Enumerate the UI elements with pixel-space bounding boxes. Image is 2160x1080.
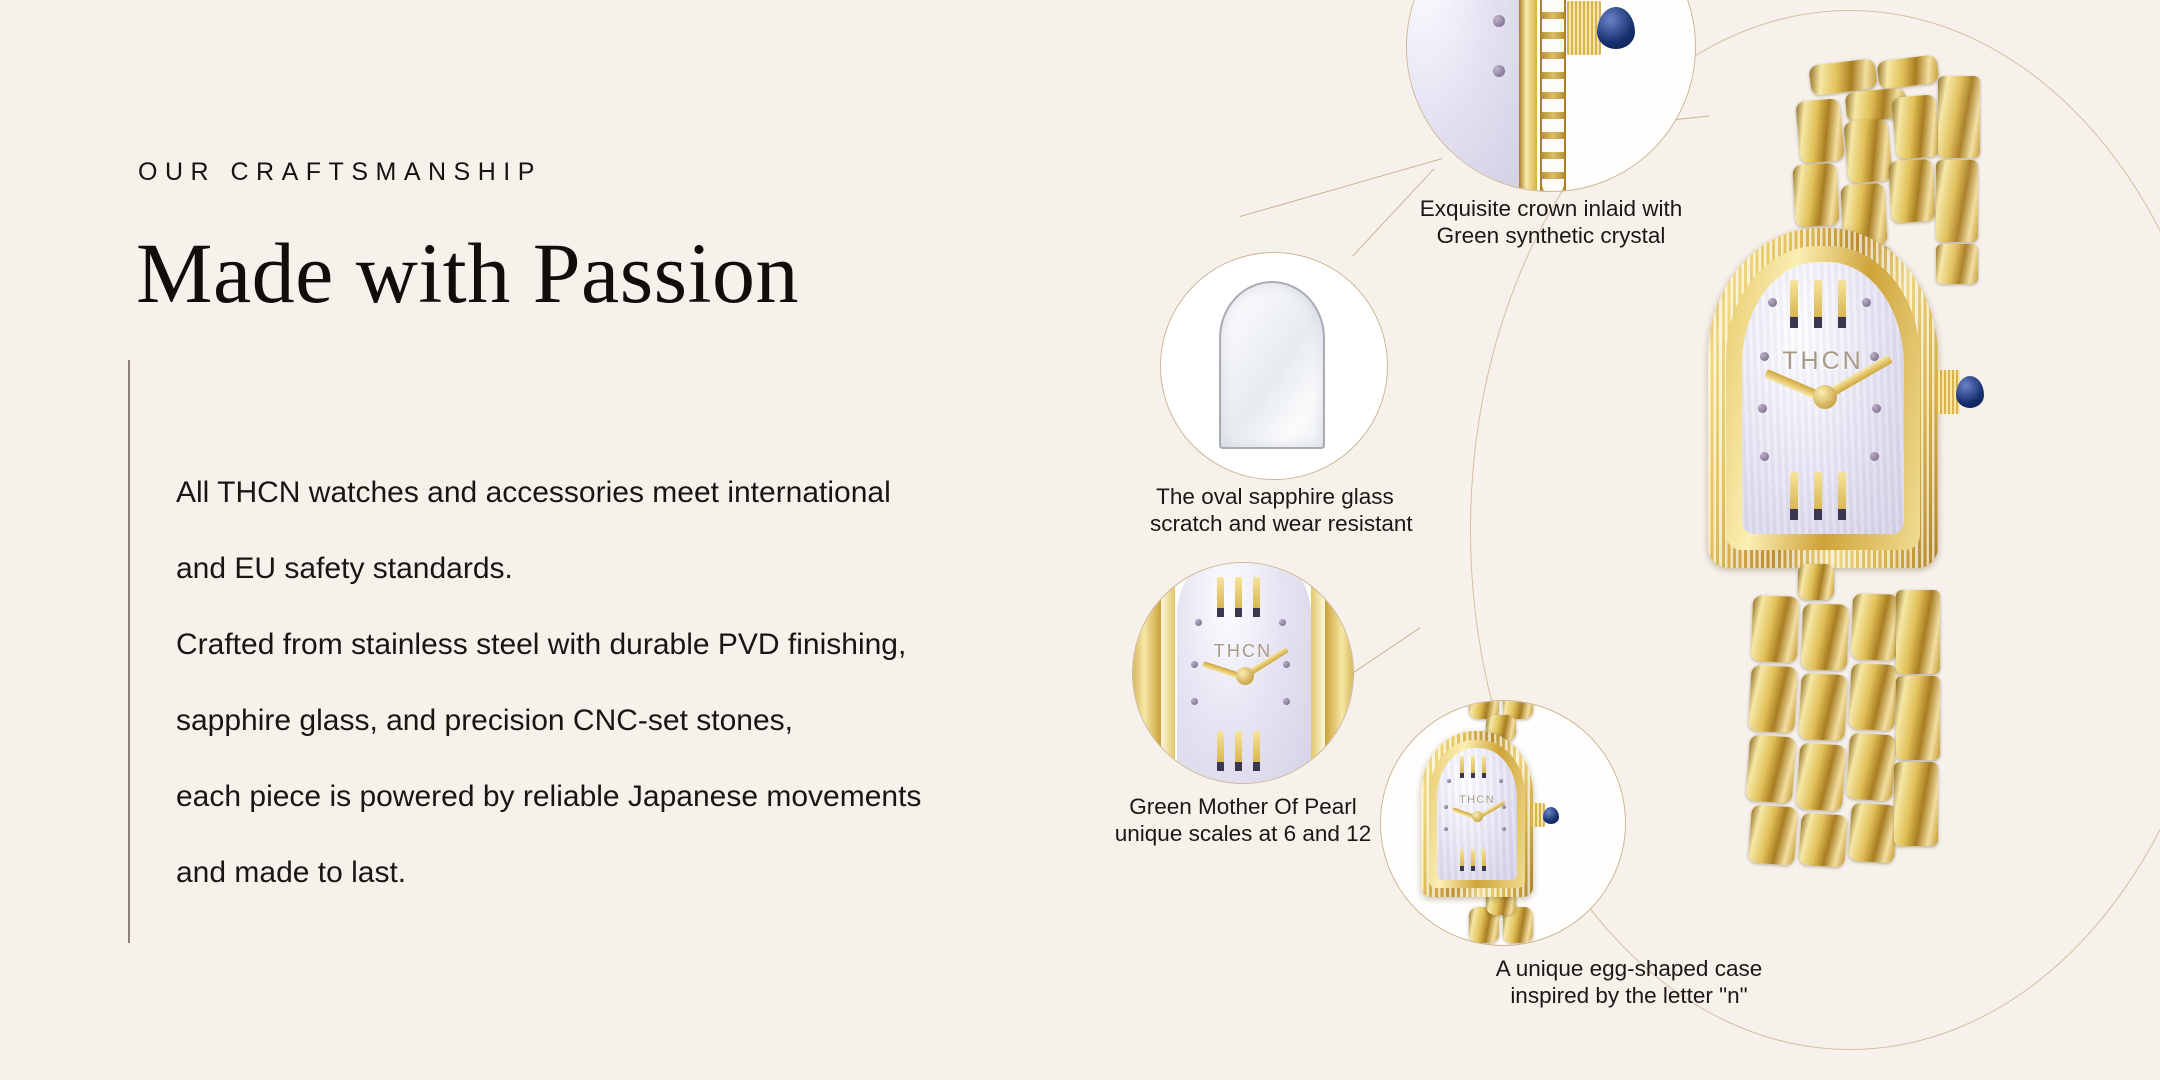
bracelet-side-band <box>1896 590 1940 674</box>
mop-case-left-inner <box>1161 562 1175 784</box>
body-line: and made to last. <box>176 835 1116 911</box>
hero-dot <box>1870 452 1879 461</box>
bracelet-link <box>1851 593 1899 661</box>
mop-dot <box>1283 698 1290 705</box>
hero-dot <box>1760 452 1769 461</box>
egg-crown-stone <box>1543 807 1559 824</box>
egg-bar-6 <box>1460 849 1464 871</box>
bracelet-link <box>1848 663 1897 731</box>
callout-bubble-mother-of-pearl: THCN <box>1132 562 1354 784</box>
hero-bar-6 <box>1838 472 1846 520</box>
bracelet-side-band <box>1936 160 1978 242</box>
body-line: and EU safety standards. <box>176 531 1116 607</box>
body-line: sapphire glass, and precision CNC-set st… <box>176 683 1116 759</box>
mop-bar-12 <box>1253 577 1260 617</box>
bracelet-link <box>1888 159 1935 223</box>
sapphire-crystal-shape <box>1219 281 1325 449</box>
egg-bar-6 <box>1471 849 1475 871</box>
mop-bar-12 <box>1235 577 1242 617</box>
product-panel: THCN Exquisite crown inlaid with Green s… <box>1090 0 2160 1080</box>
bracelet-link <box>1746 734 1796 803</box>
mop-case-right-rail <box>1325 562 1354 784</box>
bracelet-link <box>1843 118 1892 184</box>
mop-dot <box>1279 619 1286 626</box>
hero-bar-12 <box>1814 280 1822 328</box>
hero-bar-12 <box>1790 280 1798 328</box>
mop-dot <box>1191 698 1198 705</box>
bracelet-link <box>1748 804 1798 865</box>
hero-dot <box>1872 404 1881 413</box>
egg-dot <box>1447 779 1451 783</box>
callout-bubble-egg-case: THCN <box>1380 700 1626 946</box>
hero-crown-stone <box>1956 376 1984 408</box>
bracelet-link <box>1748 665 1797 733</box>
mop-bar-6 <box>1217 731 1224 771</box>
mop-case-left-rail <box>1132 562 1161 784</box>
crown-dial-dot <box>1493 65 1505 77</box>
body-copy: All THCN watches and accessories meet in… <box>176 455 1116 911</box>
mop-bar-6 <box>1253 731 1260 771</box>
mop-case-right-inner <box>1311 562 1325 784</box>
vertical-divider <box>128 360 130 943</box>
egg-bar-12 <box>1471 756 1475 778</box>
bracelet-link <box>1795 98 1844 164</box>
hero-bar-6 <box>1790 472 1798 520</box>
bracelet-link <box>1846 732 1896 801</box>
crown-dial-dot <box>1493 15 1505 27</box>
eyebrow-label: OUR CRAFTSMANSHIP <box>138 158 542 187</box>
body-line: Crafted from stainless steel with durabl… <box>176 607 1116 683</box>
bracelet-link <box>1891 94 1940 160</box>
bracelet-link <box>1798 673 1847 741</box>
bracelet-side-band <box>1938 76 1980 158</box>
body-line: All THCN watches and accessories meet in… <box>176 455 1116 531</box>
hero-bar-6 <box>1814 472 1822 520</box>
page-title: Made with Passion <box>136 228 799 318</box>
callout-caption-mother-of-pearl: Green Mother Of Pearl unique scales at 6… <box>1088 793 1398 847</box>
mop-dot <box>1283 661 1290 668</box>
bracelet-link <box>1798 564 1834 600</box>
mop-dot <box>1191 661 1198 668</box>
callout-caption-sapphire: The oval sapphire glass scratch and wear… <box>1150 483 1400 537</box>
crown-case-rail <box>1519 0 1537 192</box>
mop-center-pin <box>1236 667 1254 685</box>
mop-dial-brand: THCN <box>1133 641 1353 662</box>
hero-dot <box>1862 298 1871 307</box>
bracelet-link <box>1751 595 1799 663</box>
bracelet-link <box>1801 603 1849 671</box>
bracelet-side-band <box>1894 762 1938 846</box>
hero-dot <box>1758 404 1767 413</box>
crown-cabochon-stone <box>1597 7 1635 49</box>
bracelet-link <box>1792 163 1839 227</box>
callout-bubble-sapphire <box>1160 252 1388 480</box>
egg-dot <box>1499 779 1503 783</box>
hero-center-pin <box>1813 385 1837 409</box>
crown-dial-slab <box>1406 0 1527 191</box>
bracelet-link <box>1877 54 1940 89</box>
crown-pave-column <box>1540 0 1566 192</box>
egg-center-pin <box>1472 811 1483 822</box>
egg-dial-brand: THCN <box>1437 794 1517 806</box>
mop-bar-6 <box>1235 731 1242 771</box>
bracelet-link <box>1848 802 1898 863</box>
egg-dot <box>1502 827 1506 831</box>
hero-dot <box>1768 298 1777 307</box>
bracelet-link <box>1798 812 1848 867</box>
crown-knurled-part <box>1567 1 1601 55</box>
mop-bar-12 <box>1217 577 1224 617</box>
mop-dot <box>1195 619 1202 626</box>
egg-dot <box>1444 827 1448 831</box>
body-line: each piece is powered by reliable Japane… <box>176 759 1116 835</box>
bracelet-side-band <box>1896 676 1940 760</box>
hero-watch: THCN <box>1650 40 2070 1040</box>
egg-bar-12 <box>1460 756 1464 778</box>
egg-bar-6 <box>1482 849 1486 871</box>
bracelet-side-band <box>1936 244 1978 284</box>
bracelet-link <box>1796 742 1846 811</box>
text-panel: OUR CRAFTSMANSHIP Made with Passion All … <box>0 0 1100 1080</box>
egg-bar-12 <box>1482 756 1486 778</box>
hero-bar-12 <box>1838 280 1846 328</box>
